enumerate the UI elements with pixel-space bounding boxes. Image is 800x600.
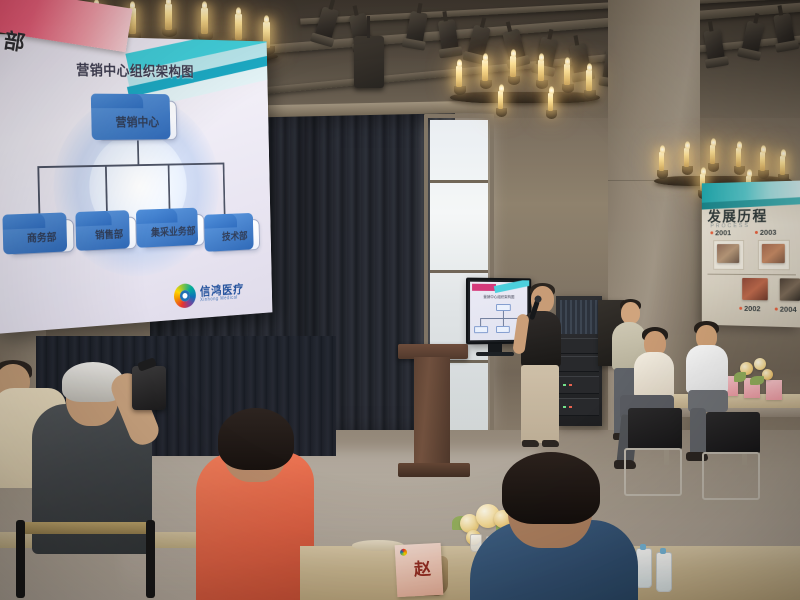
org-node-label: 营销中心 <box>115 112 159 130</box>
monitor-base <box>476 352 514 356</box>
org-node-label: 商务部 <box>27 229 57 245</box>
org-node-child: 销售部 <box>81 217 137 252</box>
xinhong-medical-logo-icon <box>400 549 407 556</box>
timeline-photo <box>742 278 768 300</box>
projection-screen: 营销中心组织架构图 营销中心 商务部 销 <box>0 34 272 334</box>
name-card-text: 赵 <box>407 559 433 577</box>
conference-room-photo: 发展历程 PROCESS 2001 2003 2002 2004 营销中心组织架… <box>0 0 800 600</box>
chair[interactable] <box>16 520 25 598</box>
org-node-child: 商务部 <box>8 219 74 255</box>
wall-display-header <box>702 181 800 203</box>
timeline-axis <box>708 274 796 276</box>
audio-equipment-rack <box>556 296 602 426</box>
xinhong-medical-logo-icon <box>174 283 196 309</box>
flower-bouquet <box>734 356 778 390</box>
name-card: 赵 <box>395 543 444 597</box>
chair[interactable] <box>146 520 155 598</box>
water-bottle <box>656 552 672 592</box>
org-node-label: 销售部 <box>95 226 123 242</box>
timeline-photo <box>762 244 785 263</box>
chair[interactable] <box>22 522 154 534</box>
slide-title: 营销中心组织架构图 <box>0 58 267 82</box>
ceiling-speaker-icon <box>354 36 384 88</box>
org-node-label: 集采业务部 <box>151 223 196 239</box>
org-connector <box>137 140 139 165</box>
wall-display-development-history: 发展历程 PROCESS 2001 2003 2002 2004 <box>702 181 800 328</box>
company-logo: 信鸿医疗 Xinhong Medical <box>174 280 245 309</box>
org-node-label: 技术部 <box>222 228 248 243</box>
timeline-photo <box>780 278 800 301</box>
camera-icon <box>132 366 166 410</box>
timeline-year-2003: 2003 <box>760 228 777 237</box>
timeline-year-2001: 2001 <box>715 228 731 237</box>
org-connector <box>37 163 224 169</box>
org-node-root: 营销中心 <box>96 100 177 140</box>
org-node-child: 技术部 <box>209 219 260 252</box>
org-chart: 营销中心 商务部 销售部 集采业务部 技术部 <box>0 94 272 294</box>
water-bottle <box>636 548 652 588</box>
org-node-child: 集采业务部 <box>141 214 204 249</box>
logo-name-en: Xinhong Medical <box>200 295 244 303</box>
podium <box>398 463 470 477</box>
timeline-photo <box>717 244 739 263</box>
timeline-year-2002: 2002 <box>744 304 760 313</box>
presentation-slide: 营销中心组织架构图 营销中心 商务部 销 <box>0 34 272 334</box>
podium <box>414 357 450 465</box>
timeline-year-2004: 2004 <box>780 305 797 314</box>
monitor-slide-title: 营销中心组织架构图 <box>470 295 527 300</box>
